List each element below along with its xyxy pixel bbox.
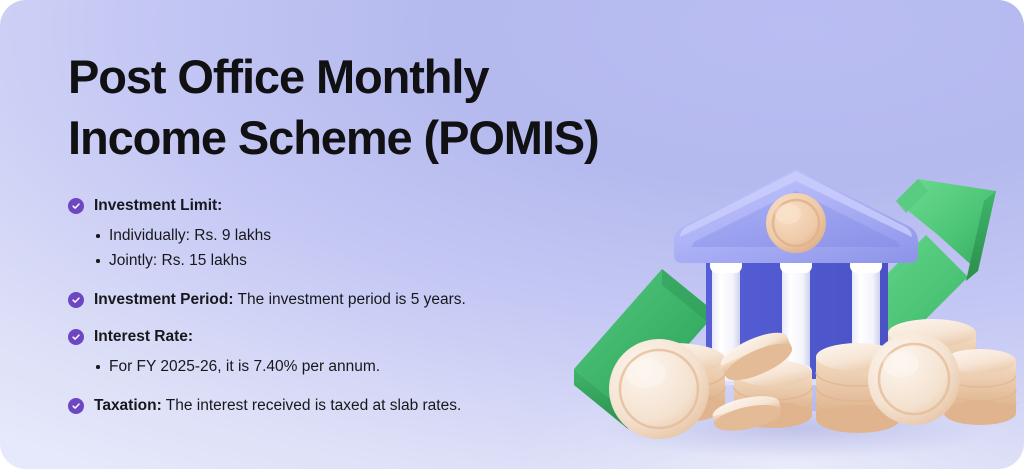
check-circle-icon — [68, 398, 84, 414]
bullet-text: Investment Limit: — [94, 196, 222, 216]
page-title-line-2: Income Scheme (POMIS) — [68, 107, 668, 168]
bullet-rest: The investment period is 5 years. — [234, 291, 466, 308]
bank-growth-coins-3d-illustration — [566, 161, 1018, 461]
pomis-info-banner: Post Office Monthly Income Scheme (POMIS… — [0, 0, 1024, 469]
check-circle-icon — [68, 292, 84, 308]
bullet-lead: Taxation: — [94, 397, 162, 414]
bullet-lead: Investment Period: — [94, 291, 234, 308]
bullet-text: Taxation: The interest received is taxed… — [94, 396, 461, 416]
pediment-coin — [766, 193, 826, 253]
page-title: Post Office Monthly Income Scheme (POMIS… — [68, 46, 668, 168]
coin-medal-front-right — [868, 333, 960, 425]
bullet-rest: The interest received is taxed at slab r… — [162, 397, 462, 414]
check-circle-icon — [68, 329, 84, 345]
bullet-lead: Interest Rate: — [94, 328, 193, 345]
check-circle-icon — [68, 198, 84, 214]
bullet-text: Investment Period: The investment period… — [94, 290, 466, 310]
bullet-lead: Investment Limit: — [94, 197, 222, 214]
bullet-text: Interest Rate: — [94, 327, 193, 347]
page-title-line-1: Post Office Monthly — [68, 46, 668, 107]
